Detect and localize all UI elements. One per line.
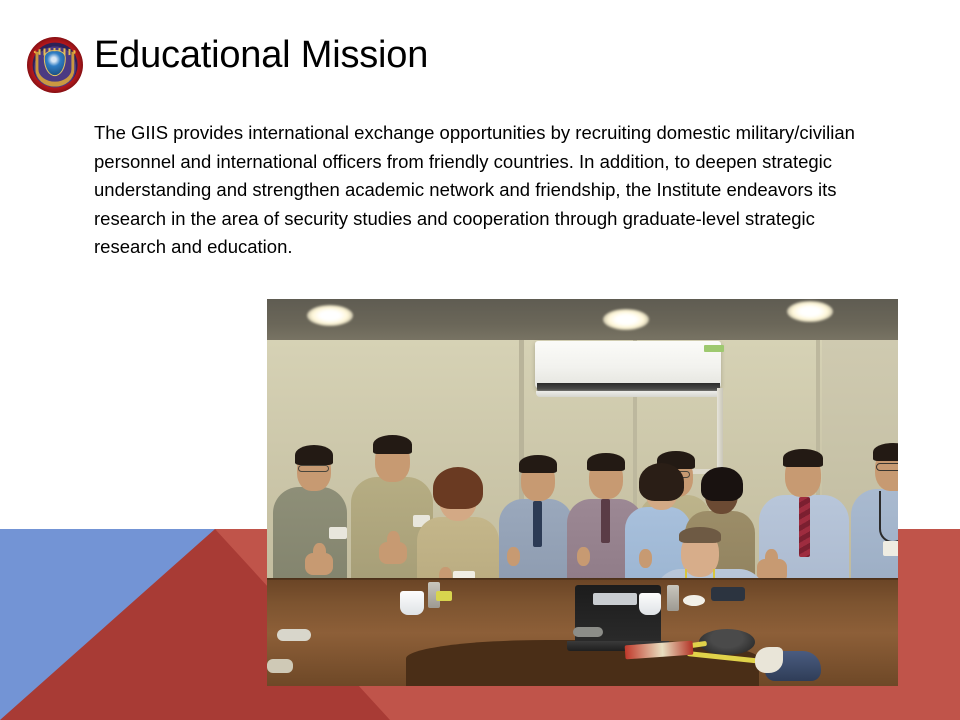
yellow-object [436, 591, 452, 601]
ceiling-light-1 [307, 305, 353, 326]
phone-device [711, 587, 745, 601]
person-10-glasses [876, 463, 898, 471]
person-5-thumbsup [577, 547, 590, 566]
person-7-thumbsup [639, 549, 652, 568]
laptop-sticker [593, 593, 637, 605]
slide-canvas: Educational Mission The GIIS provides in… [0, 0, 960, 720]
ceiling-light-2 [603, 309, 649, 330]
person-10-hair [873, 443, 898, 461]
person-8-hair [701, 467, 743, 501]
small-object-left [277, 629, 311, 641]
person-3-hair [433, 467, 483, 509]
saucer-right [683, 595, 705, 606]
person-5-hair [587, 453, 625, 471]
body-paragraph: The GIIS provides international exchange… [94, 119, 884, 262]
air-conditioner-label [704, 345, 724, 352]
person-9-necktie [799, 497, 810, 557]
person-10-id-badge [883, 541, 898, 556]
person-2-hair [373, 435, 412, 454]
group-photo [267, 299, 898, 686]
person-1-glasses [298, 465, 329, 472]
ceiling-light-3 [787, 301, 833, 322]
remote-control [573, 627, 603, 637]
person-2-hand [379, 542, 407, 564]
person-9-hair [783, 449, 823, 467]
person-7-hair [639, 463, 684, 501]
air-conditioner-pipe [717, 388, 723, 473]
white-cloth [755, 647, 783, 673]
coffee-mug-right [639, 593, 661, 615]
page-title: Educational Mission [94, 36, 428, 76]
institute-crest-logo-icon [27, 37, 83, 93]
air-conditioner-lip [536, 391, 720, 396]
conference-speakerphone [699, 629, 755, 655]
person-5-tie [601, 499, 610, 543]
person-4-hair [519, 455, 557, 473]
air-conditioner [535, 341, 721, 389]
seated-person-1-hair [679, 527, 721, 543]
person-1-hand [305, 553, 333, 575]
person-1-hair [295, 445, 333, 465]
beverage-can-right [667, 585, 679, 611]
person-4-tie [533, 501, 542, 547]
coffee-mug-left [400, 591, 424, 615]
person-1-badge [329, 527, 347, 539]
person-10-lanyard [879, 491, 898, 543]
person-4-thumbsup [507, 547, 520, 566]
object-bottom-left [267, 659, 293, 673]
